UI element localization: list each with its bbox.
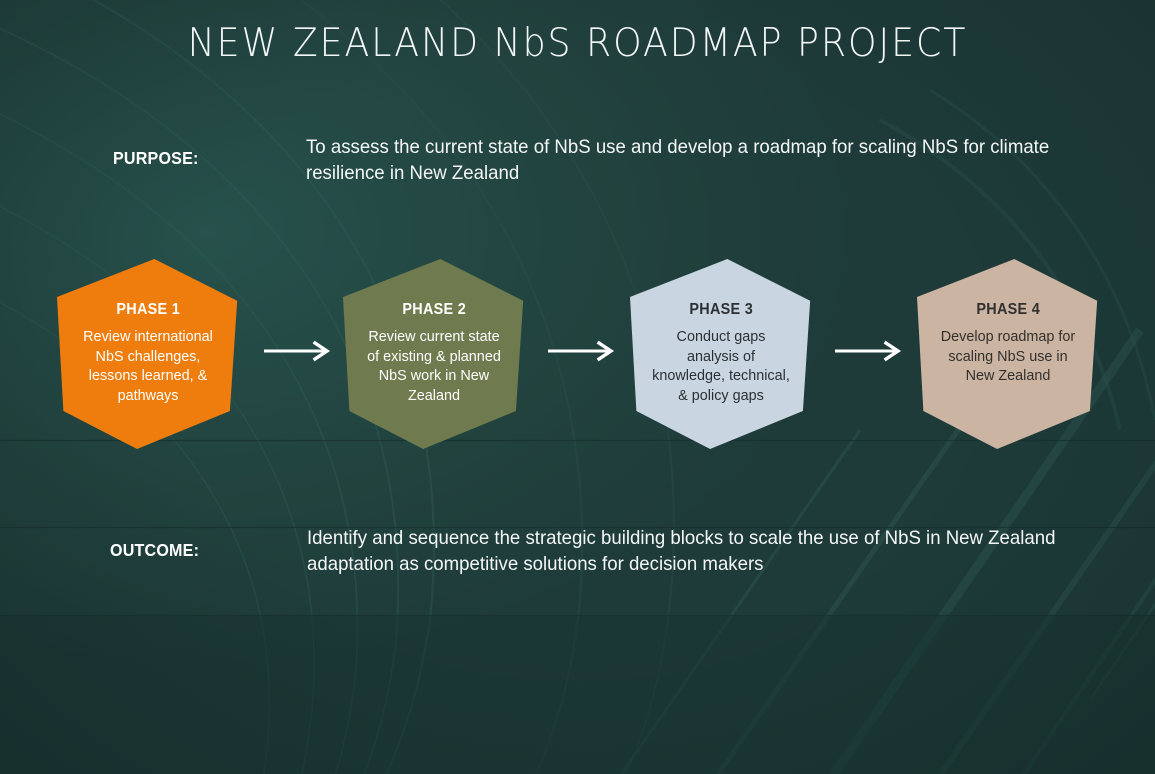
phase-1-title: PHASE 1 <box>116 301 180 319</box>
outcome-label: OUTCOME: <box>110 540 199 561</box>
phase-3-description: Conduct gaps analysis of knowledge, tech… <box>649 327 793 405</box>
purpose-label: PURPOSE: <box>113 148 199 169</box>
slide-canvas: NEW ZEALAND NbS ROADMAP PROJECT PURPOSE:… <box>0 0 1155 774</box>
phase-3-title: PHASE 3 <box>689 301 753 319</box>
phase-2-title: PHASE 2 <box>402 301 466 319</box>
outcome-text: Identify and sequence the strategic buil… <box>307 526 1061 577</box>
phase-1-description: Review international NbS challenges, les… <box>76 327 220 405</box>
phase-2-description: Review current state of existing & plann… <box>362 327 506 405</box>
phase-4-title: PHASE 4 <box>976 301 1040 319</box>
purpose-text: To assess the current state of NbS use a… <box>306 135 1060 186</box>
arrow-right-icon <box>262 340 334 362</box>
arrow-right-icon <box>833 340 905 362</box>
arrow-right-icon <box>546 340 618 362</box>
phase-4-description: Develop roadmap for scaling NbS use in N… <box>936 327 1080 386</box>
page-title: NEW ZEALAND NbS ROADMAP PROJECT <box>40 21 1114 66</box>
